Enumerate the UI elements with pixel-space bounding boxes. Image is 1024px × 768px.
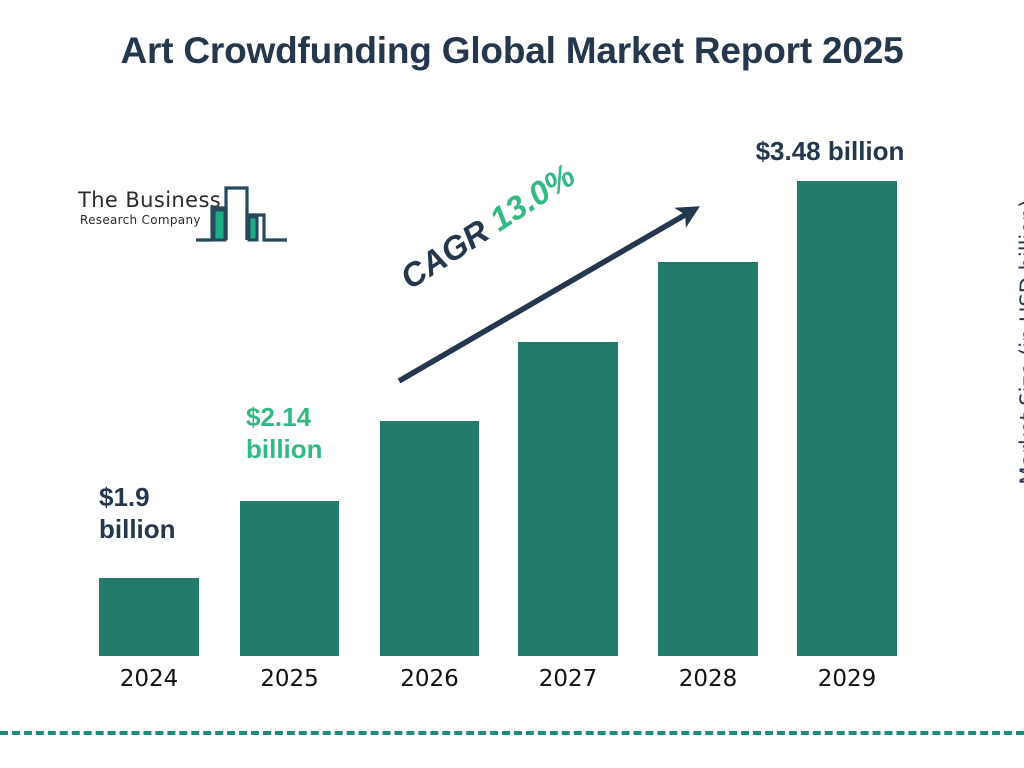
value-label-2025: $2.14 billion	[246, 402, 376, 465]
bar-2027[interactable]	[518, 342, 618, 656]
value-label-2024-line1: $1.9	[99, 482, 229, 514]
y-axis-title: Market Size (in USD billion)	[1016, 177, 1024, 507]
bar-2029[interactable]	[797, 181, 897, 656]
value-label-2025-line2: billion	[246, 434, 376, 466]
x-axis-tick-2026: 2026	[360, 666, 499, 692]
bar-2024[interactable]	[99, 578, 199, 656]
value-label-2029: $3.48 billion	[700, 136, 960, 168]
x-axis-tick-2024: 2024	[79, 666, 219, 692]
footer-divider	[0, 731, 1024, 735]
x-axis-tick-2025: 2025	[220, 666, 359, 692]
x-axis-tick-2029: 2029	[777, 666, 917, 692]
value-label-2024-line2: billion	[99, 514, 229, 546]
x-axis-tick-2027: 2027	[498, 666, 638, 692]
chart-canvas: Art Crowdfunding Global Market Report 20…	[0, 0, 1024, 768]
bar-2028[interactable]	[658, 262, 758, 656]
bar-2026[interactable]	[380, 421, 479, 656]
bar-2025[interactable]	[240, 501, 339, 656]
value-label-2024: $1.9 billion	[99, 482, 229, 545]
x-axis-tick-2028: 2028	[638, 666, 778, 692]
bar-chart-plot-area: 202420252026202720282029	[0, 0, 1024, 768]
value-label-2025-line1: $2.14	[246, 402, 376, 434]
